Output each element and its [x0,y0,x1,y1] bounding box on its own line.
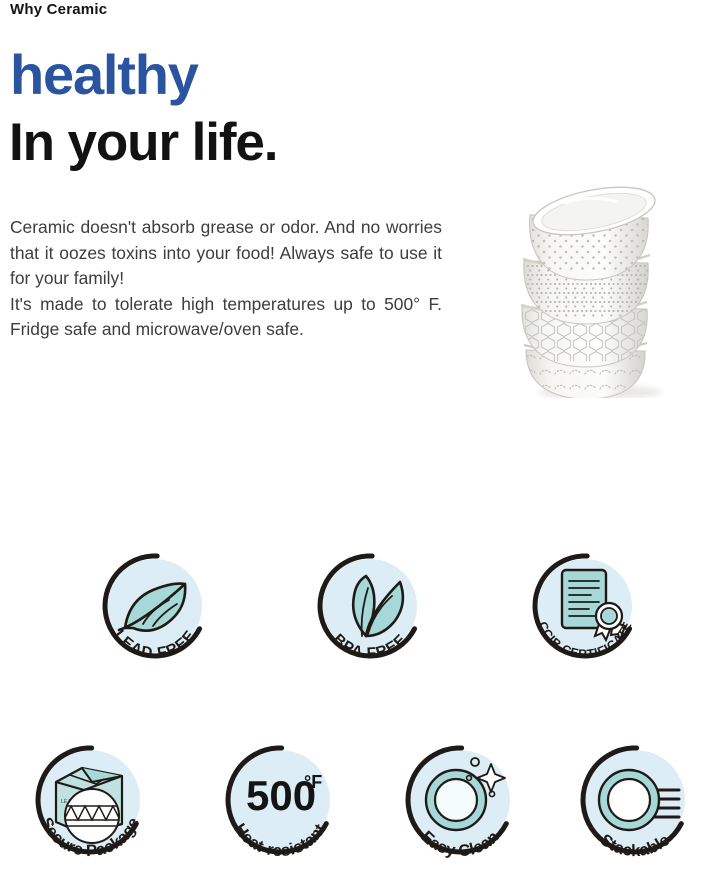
badge-secure-package[interactable]: LE TAUSS Secure Package [26,738,154,866]
badge-heat-resistant[interactable]: 500 °F Heat-resistant [216,738,344,866]
badge-stackable[interactable]: Stackable [571,738,699,866]
headline-accent: healthy [10,47,198,103]
body-paragraph-2: It's made to tolerate high temperatures … [10,292,442,343]
body-copy: Ceramic doesn't absorb grease or odor. A… [10,215,442,343]
page-title: In your life. [9,116,277,169]
badge-easy-clean[interactable]: Easy Clean [396,738,524,866]
temperature-unit: °F [304,772,322,792]
body-paragraph-2-text: It's made to tolerate high temperatures … [10,294,442,340]
badge-bpa-free[interactable]: BPA FREE [310,548,430,668]
page-eyebrow: Why Ceramic [10,1,107,18]
product-image-stacked-bowls [508,183,708,398]
corrugation-detail [64,789,120,843]
badge-lead-free[interactable]: LEAD FREE [95,548,215,668]
body-paragraph-1-text: Ceramic doesn't absorb grease or odor. A… [10,217,442,288]
body-paragraph-1: Ceramic doesn't absorb grease or odor. A… [10,215,442,292]
badge-ccib-certificate[interactable]: CCIB CERTIFICATE [525,548,645,668]
